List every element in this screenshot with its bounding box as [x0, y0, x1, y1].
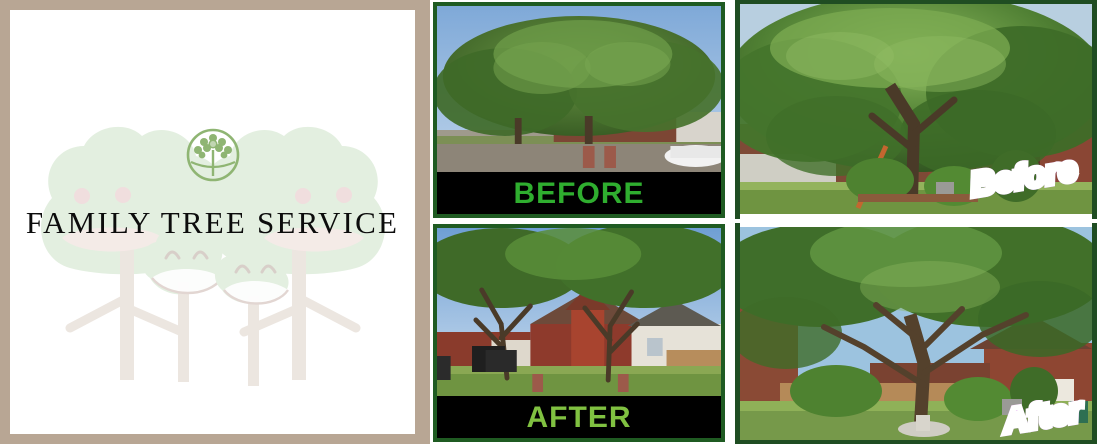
after-card-middle[interactable]: AFTER	[433, 224, 725, 442]
cartoon-tree-middle-icons	[141, 228, 288, 386]
after-caption-middle: AFTER	[437, 396, 721, 438]
before-card-middle[interactable]: BEFORE	[433, 2, 725, 218]
before-photo-middle	[437, 6, 721, 176]
collage-stage: FAMILY TREE SERVICE	[0, 0, 1097, 444]
before-after-panel-middle: BEFORE	[430, 0, 735, 444]
brand-card: FAMILY TREE SERVICE	[10, 10, 415, 434]
before-card-right[interactable]: Before	[735, 0, 1097, 219]
before-after-panel-right: Before	[735, 0, 1097, 444]
page-title: FAMILY TREE SERVICE	[10, 205, 415, 241]
after-photo-middle	[437, 228, 721, 400]
after-card-right[interactable]: After	[735, 223, 1097, 444]
brand-panel: FAMILY TREE SERVICE	[0, 0, 430, 444]
before-caption-middle: BEFORE	[437, 172, 721, 214]
